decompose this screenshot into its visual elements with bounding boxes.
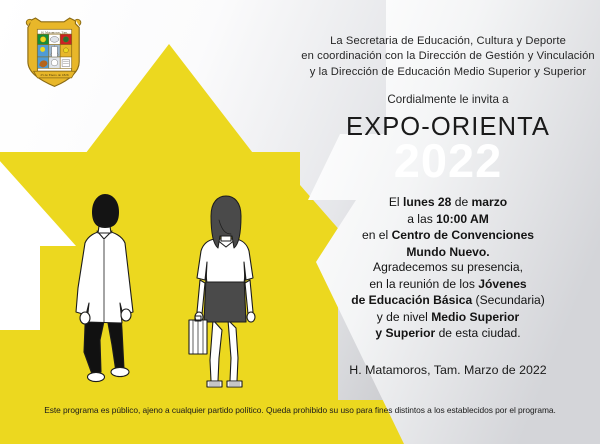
legal-disclaimer: Este programa es público, ajeno a cualqu… — [0, 405, 600, 415]
thanks-line-2: en la reunión de los Jóvenes — [296, 276, 600, 293]
event-date-line: El lunes 28 de marzo — [296, 194, 600, 211]
event-date-prefix: El — [389, 195, 403, 209]
poster-canvas: H. Matamoros, Tam. — [0, 0, 600, 444]
organizer-line-3: y la Dirección de Educación Medio Superi… — [296, 65, 600, 80]
event-details-block: El lunes 28 de marzo a las 10:00 AM en e… — [296, 194, 600, 260]
place-date-line: H. Matamoros, Tam. Marzo de 2022 — [296, 363, 600, 377]
briefcase-icon — [189, 316, 207, 354]
event-time-line: a las 10:00 AM — [296, 211, 600, 228]
thanks-jovenes: Jóvenes — [478, 277, 526, 291]
thanks-superior: y Superior — [375, 326, 435, 340]
event-date-mid: de — [451, 195, 471, 209]
thanks-line-4-prefix: y de nivel — [377, 310, 431, 324]
invitation-line: Cordialmente le invita a — [296, 93, 600, 106]
thanks-line-3: de Educación Básica (Secundaria) — [296, 292, 600, 309]
organizer-line-2: en coordinación con la Dirección de Gest… — [296, 49, 600, 64]
svg-text:25 de Enero de 1826: 25 de Enero de 1826 — [40, 73, 68, 77]
event-venue-line: en el Centro de Convenciones — [296, 227, 600, 244]
thanks-line-1: Agradecemos su presencia, — [296, 259, 600, 276]
thanks-line-5: y Superior de esta ciudad. — [296, 325, 600, 342]
event-venue-prefix: en el — [362, 228, 392, 242]
event-venue: Centro de Convenciones — [392, 228, 534, 242]
thanks-block: Agradecemos su presencia, en la reunión … — [296, 259, 600, 342]
thanks-ciudad: de esta ciudad. — [435, 326, 520, 340]
thanks-line-4: y de nivel Medio Superior — [296, 309, 600, 326]
event-year: 2022 — [296, 136, 600, 186]
event-day: lunes 28 — [403, 195, 451, 209]
text-column: La Secretaria de Educación, Cultura y De… — [296, 0, 600, 444]
event-time: 10:00 AM — [436, 212, 489, 226]
thanks-educacion-basica: de Educación Básica — [351, 293, 472, 307]
organizer-line-1: La Secretaria de Educación, Cultura y De… — [296, 34, 600, 49]
thanks-secundaria: (Secundaria) — [472, 293, 545, 307]
event-time-prefix: a las — [407, 212, 436, 226]
event-venue-line-2: Mundo Nuevo. — [296, 244, 600, 261]
organizer-block: La Secretaria de Educación, Cultura y De… — [296, 34, 600, 80]
thanks-line-2-prefix: en la reunión de los — [369, 277, 478, 291]
event-month: marzo — [472, 195, 508, 209]
thanks-medio-superior: Medio Superior — [431, 310, 519, 324]
